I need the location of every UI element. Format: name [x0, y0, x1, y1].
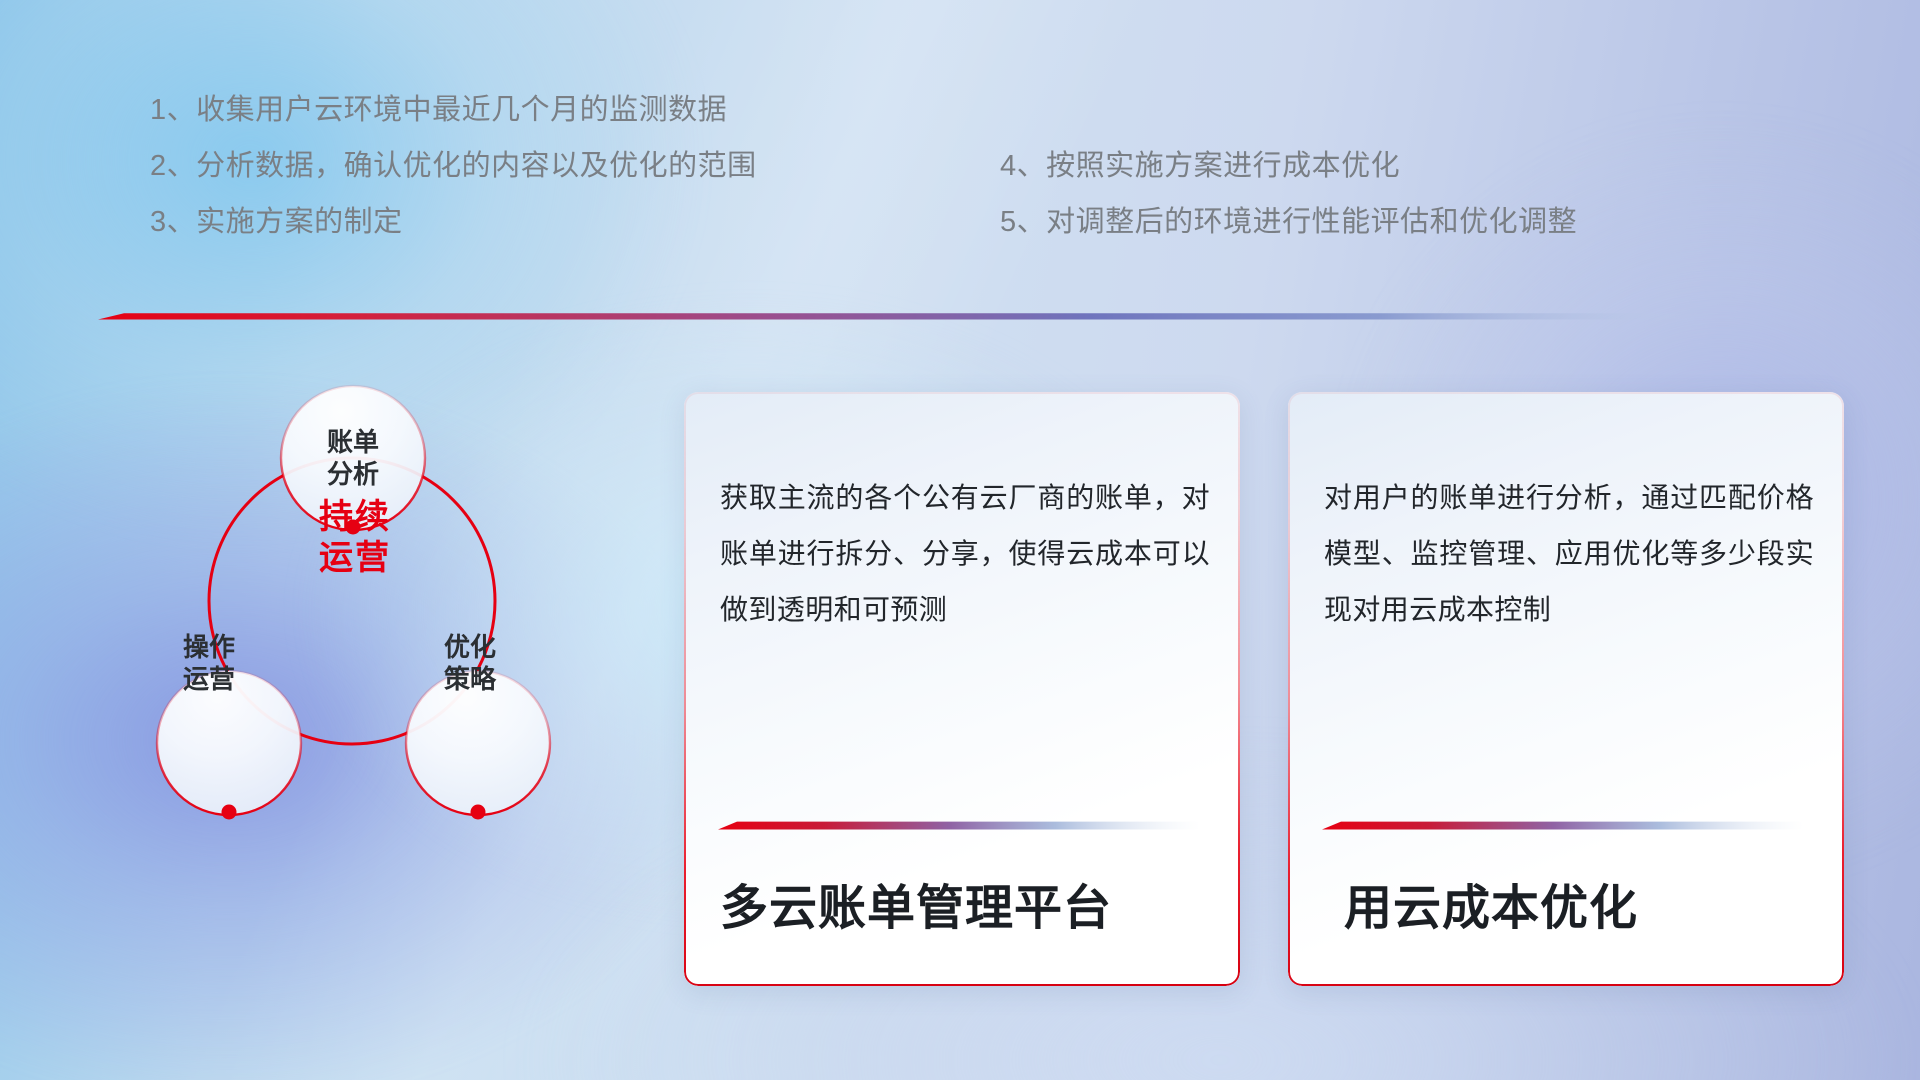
- card-accent-rule: [1322, 820, 1804, 831]
- feature-card-cloud-cost-optimization[interactable]: 对用户的账单进行分析，通过匹配价格模型、监控管理、应用优化等多少段实现对用云成本…: [1288, 392, 1844, 986]
- card-body: 获取主流的各个公有云厂商的账单，对账单进行拆分、分享，使得云成本可以做到透明和可…: [720, 470, 1210, 638]
- venn-node-left: [157, 671, 301, 845]
- step-item-5: 5、对调整后的环境进行性能评估和优化调整: [1000, 208, 1820, 237]
- venn-node-right: [406, 671, 550, 845]
- card-title: 用云成本优化: [1344, 868, 1638, 938]
- steps-left-column: 1、收集用户云环境中最近几个月的监测数据 2、分析数据，确认优化的内容以及优化的…: [150, 96, 910, 264]
- feature-card-multicloud-billing[interactable]: 获取主流的各个公有云厂商的账单，对账单进行拆分、分享，使得云成本可以做到透明和可…: [684, 392, 1240, 986]
- card-description: 获取主流的各个公有云厂商的账单，对账单进行拆分、分享，使得云成本可以做到透明和可…: [720, 470, 1210, 638]
- step-item-3: 3、实施方案的制定: [150, 208, 910, 237]
- venn-node-top: [281, 386, 425, 560]
- slide-canvas: 1、收集用户云环境中最近几个月的监测数据 2、分析数据，确认优化的内容以及优化的…: [0, 0, 1920, 1080]
- venn-diagram: 账单 分析 操作 运营 优化 策略 持续 运营: [100, 352, 660, 952]
- steps-right-column: 4、按照实施方案进行成本优化 5、对调整后的环境进行性能评估和优化调整: [1000, 152, 1820, 264]
- section-divider: [98, 311, 1698, 323]
- card-accent-rule: [718, 820, 1200, 831]
- card-title: 多云账单管理平台: [720, 868, 1112, 938]
- card-description: 对用户的账单进行分析，通过匹配价格模型、监控管理、应用优化等多少段实现对用云成本…: [1324, 470, 1814, 638]
- step-item-1: 1、收集用户云环境中最近几个月的监测数据: [150, 96, 910, 125]
- step-item-4: 4、按照实施方案进行成本优化: [1000, 152, 1820, 181]
- card-body: 对用户的账单进行分析，通过匹配价格模型、监控管理、应用优化等多少段实现对用云成本…: [1324, 470, 1814, 638]
- step-item-2: 2、分析数据，确认优化的内容以及优化的范围: [150, 152, 910, 181]
